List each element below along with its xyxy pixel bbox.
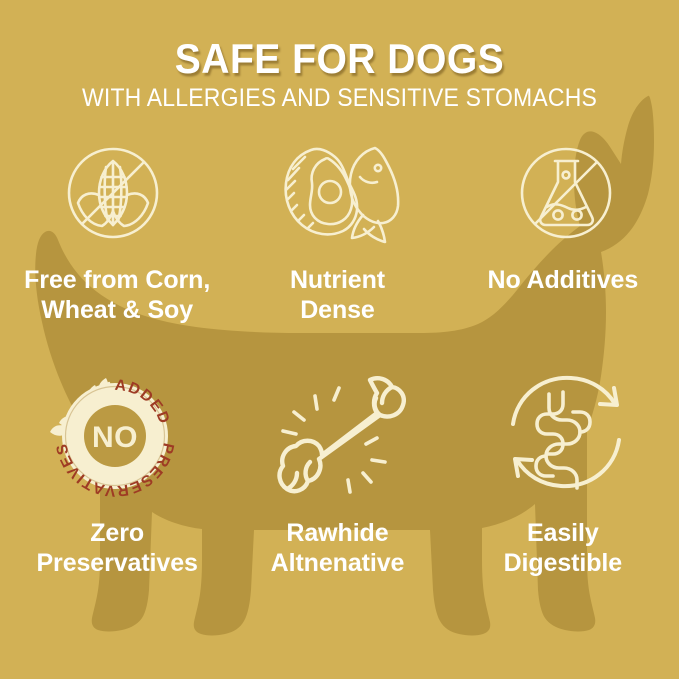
feature-grid: Free from Corn, Wheat & Soy (0, 134, 679, 600)
feature-free-from-corn-wheat-soy: Free from Corn, Wheat & Soy (0, 134, 226, 367)
page-subtitle: WITH ALLERGIES AND SENSITIVE STOMACHS (27, 85, 652, 111)
feature-easily-digestible: Easily Digestible (453, 367, 679, 600)
feature-label: Nutrient Dense (284, 266, 391, 325)
header: SAFE FOR DOGS WITH ALLERGIES AND SENSITI… (0, 38, 679, 111)
feature-label: No Additives (481, 266, 644, 296)
no-added-preservatives-badge-icon: ADDED PRESERVATIVES NO (47, 367, 179, 497)
feature-no-additives: No Additives (453, 134, 679, 367)
feature-label: Zero Preservatives (30, 519, 203, 578)
feature-nutrient-dense: Nutrient Dense (226, 134, 452, 367)
badge-center-text: NO (92, 421, 138, 454)
steak-egg-fish-icon (277, 134, 401, 252)
feature-zero-preservatives: ADDED PRESERVATIVES NO Zero Preservative… (0, 367, 226, 600)
no-corn-icon (57, 134, 169, 252)
dog-bone-icon (272, 367, 406, 497)
no-chemical-flask-icon (510, 134, 622, 252)
page-title: SAFE FOR DOGS (24, 38, 655, 81)
feature-rawhide-alternative: Rawhide Altnenative (226, 367, 452, 600)
feature-label: Free from Corn, Wheat & Soy (18, 266, 216, 325)
intestines-recycle-icon (501, 367, 631, 497)
safe-for-dogs-infographic: SAFE FOR DOGS WITH ALLERGIES AND SENSITI… (0, 0, 679, 679)
feature-label: Easily Digestible (498, 519, 628, 578)
feature-label: Rawhide Altnenative (265, 519, 411, 578)
